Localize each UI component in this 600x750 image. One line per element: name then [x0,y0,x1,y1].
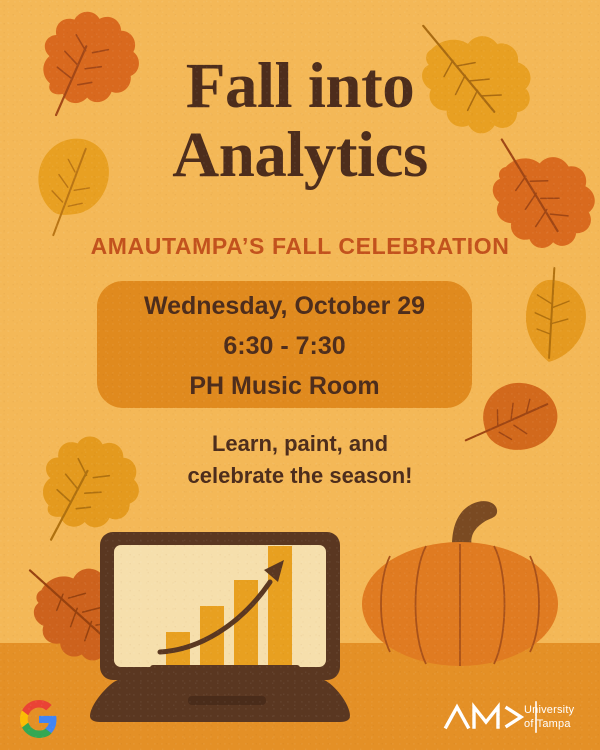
poster-subtitle: AMAUTAMPA’S FALL CELEBRATION [0,233,600,260]
poster-tagline: Learn, paint, and celebrate the season! [0,428,600,492]
tagline-line-1: Learn, paint, and [0,428,600,460]
ama-affiliation: University of Tampa [524,703,574,731]
ama-affiliation-line-2: of Tampa [524,717,574,731]
ama-affiliation-line-1: University [524,703,574,717]
poster-content: Fall into Analytics AMAUTAMPA’S FALL CEL… [0,0,600,750]
page-title: Fall into Analytics [0,52,600,190]
headline-line-1: Fall into [186,50,414,122]
event-location: PH Music Room [97,366,472,406]
event-time: 6:30 - 7:30 [97,326,472,366]
event-details-card: Wednesday, October 29 6:30 - 7:30 PH Mus… [97,281,472,408]
event-poster: Fall into Analytics AMAUTAMPA’S FALL CEL… [0,0,600,750]
headline-line-2: Analytics [0,121,600,190]
event-date: Wednesday, October 29 [97,281,472,326]
google-g-logo-icon [20,700,58,738]
tagline-line-2: celebrate the season! [0,460,600,492]
